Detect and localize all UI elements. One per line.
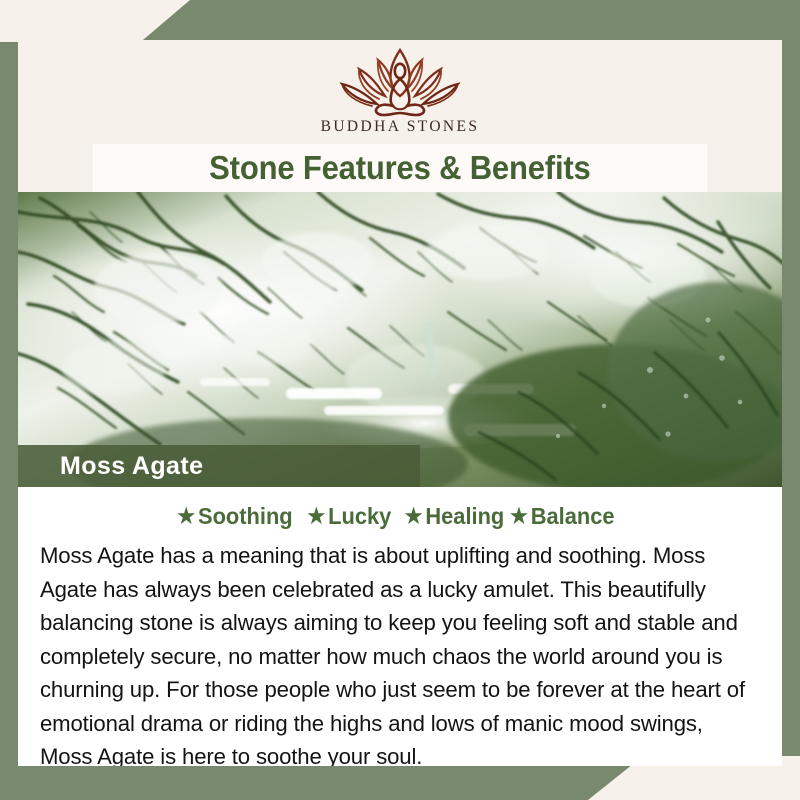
content-panel: ★ Soothing ★ Lucky ★ Healing ★ Balance M… [18, 487, 782, 766]
star-icon: ★ [510, 504, 528, 529]
feature-item-soothing: ★ Soothing [177, 503, 301, 530]
feature-list: ★ Soothing ★ Lucky ★ Healing ★ Balance [38, 499, 762, 533]
frame-notch-top-left [0, 0, 190, 42]
star-icon: ★ [177, 504, 195, 529]
stone-caption-banner: Moss Agate [18, 445, 420, 487]
outer-frame: BUDDHA STONES Stone Features & Benefits [0, 0, 800, 800]
feature-item-lucky: ★ Lucky [307, 503, 399, 530]
feature-label: Healing [425, 503, 504, 530]
brand-name: BUDDHA STONES [321, 118, 480, 136]
lotus-meditation-icon [325, 44, 475, 120]
feature-label: Soothing [198, 503, 293, 530]
stone-photo: Moss Agate [18, 192, 782, 487]
stone-description: Moss Agate has a meaning that is about u… [38, 539, 751, 766]
feature-item-healing: ★ Healing [405, 503, 505, 530]
brand-header: BUDDHA STONES [18, 40, 782, 144]
star-icon: ★ [405, 504, 423, 529]
page-panel: BUDDHA STONES Stone Features & Benefits [18, 40, 782, 766]
feature-item-balance: ★ Balance [510, 503, 623, 530]
page-title: Stone Features & Benefits [209, 149, 590, 187]
stone-photo-image [18, 192, 782, 487]
stone-name: Moss Agate [18, 452, 203, 481]
star-icon: ★ [307, 504, 325, 529]
title-band: Stone Features & Benefits [93, 144, 707, 192]
feature-label: Balance [531, 503, 615, 530]
feature-label: Lucky [328, 503, 391, 530]
